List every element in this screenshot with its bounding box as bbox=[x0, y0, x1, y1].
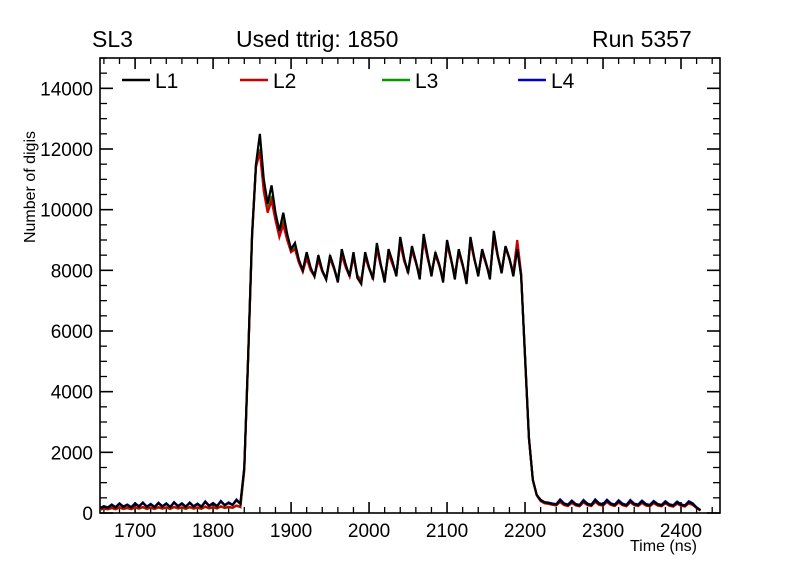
svg-text:8000: 8000 bbox=[51, 261, 93, 282]
svg-text:10000: 10000 bbox=[40, 201, 93, 222]
svg-text:12000: 12000 bbox=[40, 140, 93, 161]
svg-text:14000: 14000 bbox=[40, 79, 93, 100]
series-line-L1 bbox=[100, 134, 701, 510]
svg-text:1900: 1900 bbox=[270, 521, 312, 542]
svg-text:1700: 1700 bbox=[114, 521, 156, 542]
data-series-group bbox=[100, 134, 701, 511]
svg-text:2100: 2100 bbox=[426, 521, 468, 542]
svg-text:1800: 1800 bbox=[192, 521, 234, 542]
plot-frame bbox=[100, 58, 720, 513]
svg-text:2000: 2000 bbox=[348, 521, 390, 542]
legend-label-L1: L1 bbox=[155, 70, 178, 93]
svg-text:6000: 6000 bbox=[51, 322, 93, 343]
legend-label-L4: L4 bbox=[551, 70, 575, 93]
svg-text:4000: 4000 bbox=[51, 383, 93, 404]
series-line-L3 bbox=[100, 149, 701, 510]
legend-label-L2: L2 bbox=[273, 70, 296, 93]
svg-text:0: 0 bbox=[82, 504, 93, 525]
legend-label-L3: L3 bbox=[415, 70, 438, 93]
svg-text:2200: 2200 bbox=[504, 521, 546, 542]
plot-area: 1700180019002000210022002300240002000400… bbox=[0, 0, 796, 572]
svg-text:2300: 2300 bbox=[582, 521, 624, 542]
legend: L1L2L3L4 bbox=[122, 70, 575, 93]
svg-text:2000: 2000 bbox=[51, 443, 93, 464]
axis-tick-labels: 1700180019002000210022002300240002000400… bbox=[40, 79, 702, 542]
axis-ticks bbox=[100, 58, 720, 513]
series-line-L4 bbox=[100, 151, 701, 511]
svg-text:2400: 2400 bbox=[660, 521, 702, 542]
root-canvas: SL3 Used ttrig: 1850 Run 5357 Number of … bbox=[0, 0, 796, 572]
series-line-L2 bbox=[100, 152, 701, 511]
